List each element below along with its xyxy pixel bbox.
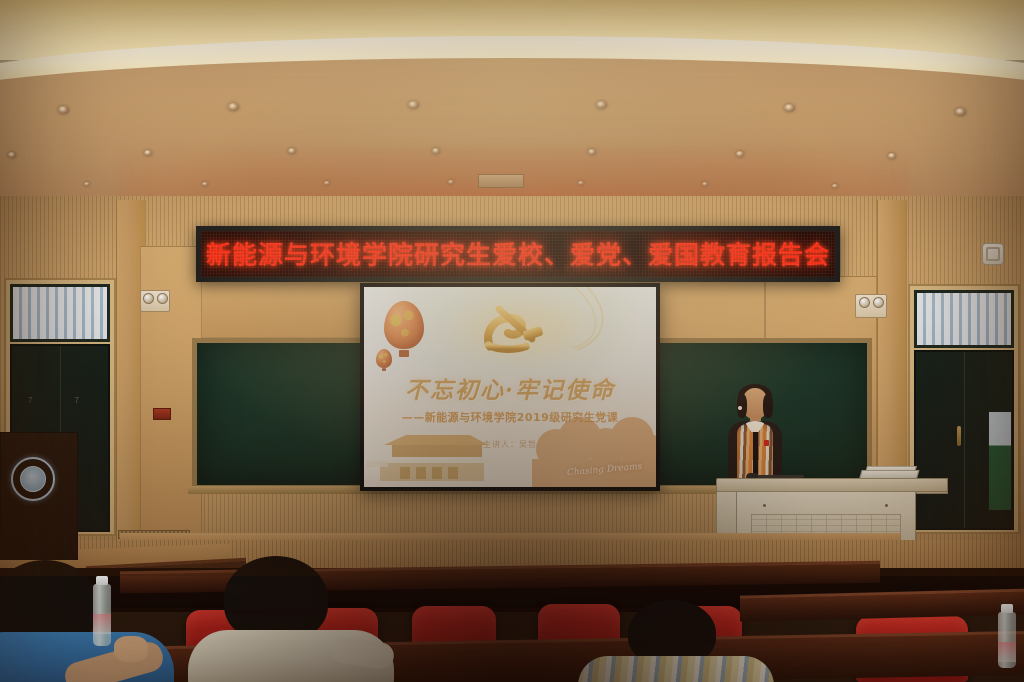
ceiling-vent [478, 174, 524, 188]
ceiling-downlight [324, 181, 330, 185]
ceiling-downlight [202, 182, 208, 186]
ceiling-downlight [955, 108, 966, 116]
lecture-hall-photo: 7 7 新能源与环境学院研究生爱校、爱党、爱国教育报告会 新能源与环境学院研究生… [0, 0, 1024, 682]
ceiling-downlight [8, 152, 16, 158]
ceiling-downlight [588, 149, 596, 155]
bottle-label [998, 642, 1016, 662]
ceiling-downlight [58, 106, 69, 114]
water-bottle[interactable] [998, 612, 1016, 668]
ceiling-downlight [432, 148, 440, 154]
ceiling-downlight [578, 181, 584, 185]
ceiling-downlight [84, 182, 90, 186]
audience-member-blue-shirt [0, 560, 176, 682]
wall-light-falloff [0, 196, 1024, 576]
ceiling-downlight [832, 184, 838, 188]
ceiling-downlight [784, 104, 795, 112]
audience-shoulders [578, 656, 774, 682]
ceiling-downlight [288, 148, 296, 154]
ceiling-downlight [596, 101, 607, 109]
ceiling-downlight [144, 150, 152, 156]
audience-member-striped-shirt [590, 600, 760, 682]
ceiling-downlight [408, 101, 419, 109]
ceiling-downlight [228, 103, 239, 111]
audience-hand [114, 636, 148, 662]
ceiling-downlight [448, 180, 454, 184]
bottle-cap [1001, 604, 1013, 613]
ceiling-downlight [702, 182, 708, 186]
ceiling-downlight [888, 153, 896, 159]
bottle-cap [96, 576, 108, 585]
bottle-label [93, 614, 111, 634]
ceiling-downlight [736, 151, 744, 157]
water-bottle[interactable] [93, 584, 111, 646]
